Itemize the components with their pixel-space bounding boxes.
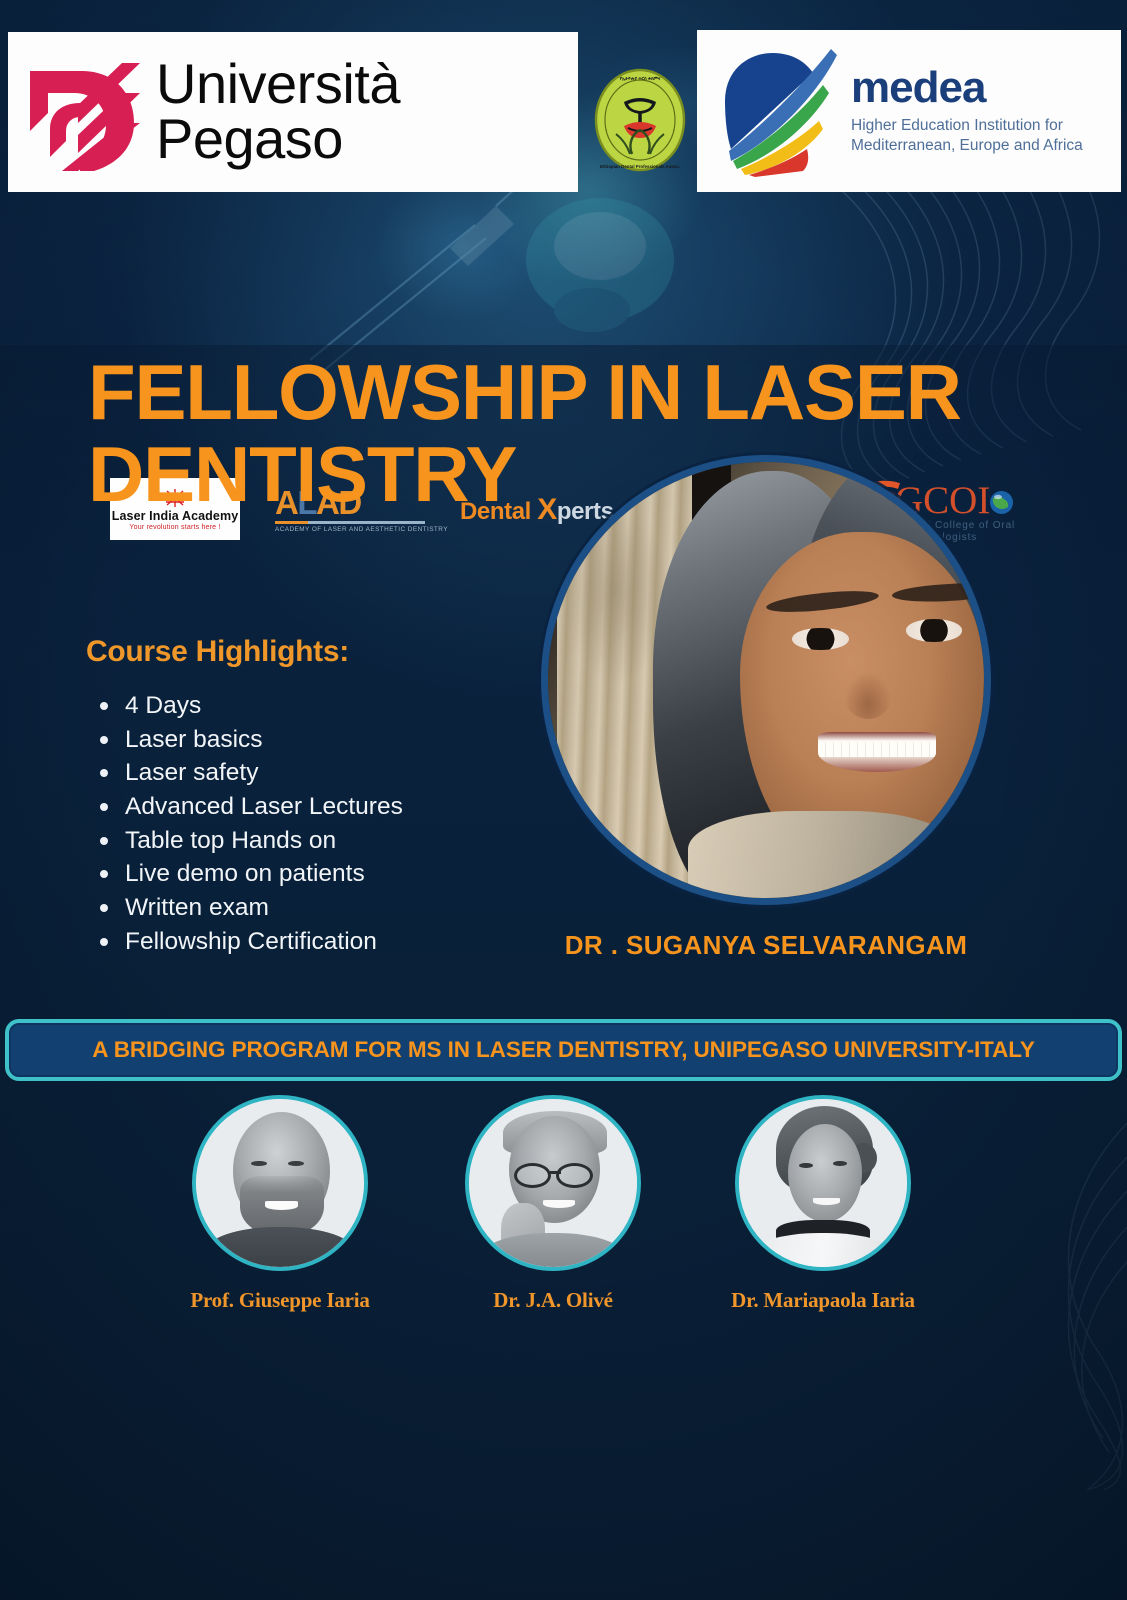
header-logo-row: Università Pegaso የኢትዮጵያ ጥርስ ሕክምና Ethiop… bbox=[0, 0, 1127, 200]
medea-subtitle: Higher Education Institution for Mediter… bbox=[851, 116, 1111, 157]
alad-rule bbox=[275, 521, 425, 524]
faculty-name: Dr. Mariapaola Iaria bbox=[728, 1288, 918, 1313]
pegaso-mark-icon bbox=[22, 53, 142, 171]
course-highlights-section: Course Highlights: 4 Days Laser basics L… bbox=[86, 635, 526, 959]
poster-canvas: Università Pegaso የኢትዮጵያ ጥርስ ሕክምና Ethiop… bbox=[0, 0, 1127, 1600]
svg-text:የኢትዮጵያ ጥርስ ሕክምና: የኢትዮጵያ ጥርስ ሕክምና bbox=[620, 76, 661, 81]
list-item: Table top Hands on bbox=[86, 824, 526, 858]
main-speaker-photo bbox=[541, 455, 991, 905]
avatar bbox=[192, 1095, 368, 1271]
footer-section: ADDIS ABABA, ETHIOPIA www.edudentistry.c… bbox=[0, 1352, 1127, 1600]
alad-subtitle: ACADEMY OF LASER AND AESTHETIC DENTISTRY bbox=[275, 526, 425, 533]
main-speaker-name: DR . SUGANYA SELVARANGAM bbox=[541, 930, 991, 961]
list-item: Fellowship Certification bbox=[86, 925, 526, 959]
list-item: Live demo on patients bbox=[86, 857, 526, 891]
bridging-program-banner: A BRIDGING PROGRAM FOR MS IN LASER DENTI… bbox=[5, 1019, 1122, 1081]
list-item: Laser safety bbox=[86, 756, 526, 790]
faculty-section: Prof. Giuseppe Iaria Dr. J.A. Olivé bbox=[0, 1095, 1127, 1325]
course-highlights-list: 4 Days Laser basics Laser safety Advance… bbox=[86, 689, 526, 959]
medea-mark-icon bbox=[711, 45, 839, 177]
logo-universita-pegaso: Università Pegaso bbox=[8, 32, 578, 192]
logo-medea: medea Higher Education Institution for M… bbox=[697, 30, 1121, 192]
sponsor-logo-strip: Laser India Academy Your revolution star… bbox=[0, 236, 1127, 312]
laser-india-academy-tagline: Your revolution starts here ! bbox=[129, 524, 220, 531]
faculty-member-1: Prof. Giuseppe Iaria bbox=[185, 1095, 375, 1313]
list-item: 4 Days bbox=[86, 689, 526, 723]
list-item: Laser basics bbox=[86, 723, 526, 757]
avatar bbox=[735, 1095, 911, 1271]
medea-wordmark: medea bbox=[851, 66, 1111, 110]
pegaso-wordmark-line2: Pegaso bbox=[156, 112, 400, 167]
faculty-name: Prof. Giuseppe Iaria bbox=[185, 1288, 375, 1313]
list-item: Written exam bbox=[86, 891, 526, 925]
faculty-name: Dr. J.A. Olivé bbox=[458, 1288, 648, 1313]
bridging-program-text: A BRIDGING PROGRAM FOR MS IN LASER DENTI… bbox=[92, 1037, 1034, 1063]
avatar bbox=[465, 1095, 641, 1271]
faculty-member-3: Dr. Mariapaola Iaria bbox=[728, 1095, 918, 1313]
svg-text:Ethiopian Dental Professionals: Ethiopian Dental Professionals Assoc. bbox=[600, 164, 680, 169]
ethiopian-dental-professionals-association-seal-icon: የኢትዮጵያ ጥርስ ሕክምና Ethiopian Dental Profess… bbox=[594, 68, 686, 172]
list-item: Advanced Laser Lectures bbox=[86, 790, 526, 824]
course-highlights-heading: Course Highlights: bbox=[86, 635, 526, 669]
pegaso-wordmark-line1: Università bbox=[156, 57, 400, 112]
faculty-member-2: Dr. J.A. Olivé bbox=[458, 1095, 648, 1313]
